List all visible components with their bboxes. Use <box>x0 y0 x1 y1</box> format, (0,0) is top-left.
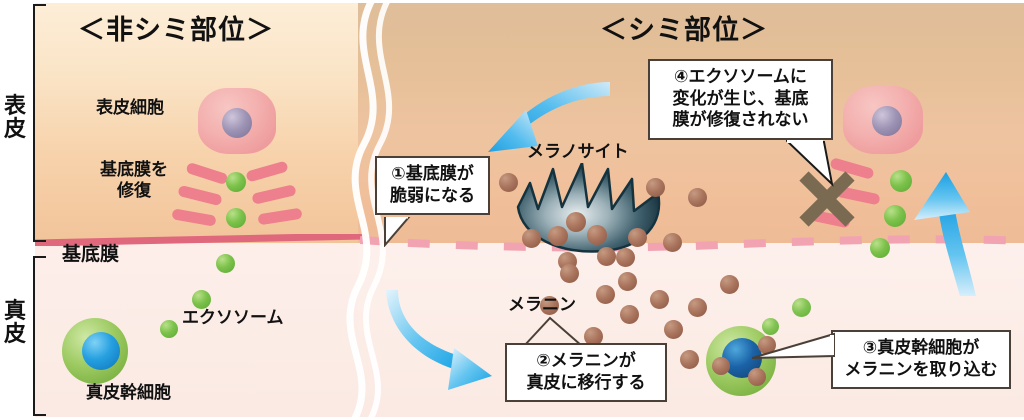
side-label-epidermis: 表皮 <box>0 95 30 141</box>
melanin-particle <box>548 226 568 246</box>
diagram-canvas: 表皮 真皮 ＜非シミ部位＞ ＜シミ部位＞ 表皮細胞 基底膜を 修復 基底膜 エク… <box>0 0 1024 420</box>
melanin-particle <box>650 290 669 309</box>
melanin-particle <box>616 248 635 267</box>
melanin-particle <box>688 188 707 207</box>
exosome-particle <box>160 320 178 338</box>
exosome-particle-altered <box>792 298 811 317</box>
label-basement-membrane: 基底膜 <box>62 243 119 266</box>
callout-4-tail <box>786 140 856 188</box>
callout-1-tail <box>383 217 429 247</box>
melanin-particle <box>560 264 579 283</box>
blue-arrow-to-dermis-icon <box>368 288 500 398</box>
melanin-particle <box>688 298 707 317</box>
label-melanocyte: メラノサイト <box>527 142 629 163</box>
exosome-particle <box>226 208 246 228</box>
callout-3-tail <box>752 332 836 368</box>
bracket-dermis <box>33 256 35 416</box>
melanin-particle <box>628 228 647 247</box>
callout-1: ①基底膜が 脆弱になる <box>375 156 490 215</box>
keratinocyte-nucleus-left <box>222 108 252 138</box>
melanin-particle <box>720 275 739 294</box>
label-repair-basement-membrane: 基底膜を 修復 <box>100 160 168 201</box>
label-keratinocyte: 表皮細胞 <box>96 98 164 119</box>
bracket-epidermis <box>33 4 35 242</box>
header-non-spot-area: ＜非シミ部位＞ <box>78 8 274 47</box>
exosome-particle-altered <box>870 238 890 258</box>
melanin-particle <box>680 350 699 369</box>
melanin-particle <box>597 247 616 266</box>
melanin-particle <box>499 173 518 192</box>
melanin-particle <box>664 320 683 339</box>
callout-3: ③真皮幹細胞が メラニンを取り込む <box>831 330 1011 389</box>
exosome-particle <box>226 172 246 192</box>
melanin-particle <box>522 229 541 248</box>
melanin-particle-absorbed <box>748 368 766 386</box>
label-dermal-stem-cell: 真皮幹細胞 <box>86 383 171 404</box>
callout-4: ④エクソソームに 変化が生じ、基底 膜が修復されない <box>648 59 833 140</box>
melanin-particle <box>596 285 615 304</box>
side-label-dermis: 真皮 <box>0 300 30 346</box>
melanin-particle <box>620 305 639 324</box>
melanin-particle <box>618 272 637 291</box>
dermal-stem-cell-nucleus-left <box>82 332 120 370</box>
melanin-particle-absorbed <box>712 357 730 375</box>
callout-2: ②メラニンが 真皮に移行する <box>505 343 667 402</box>
keratinocyte-nucleus-right <box>872 106 902 136</box>
blue-arrow-up-icon <box>900 168 1010 298</box>
exosome-particle <box>192 290 211 309</box>
melanin-particle <box>566 212 586 232</box>
label-exosome: エクソソーム <box>182 308 284 329</box>
melanin-particle <box>587 225 607 245</box>
melanin-particle <box>646 178 665 197</box>
exosome-particle <box>216 254 235 273</box>
melanin-particle <box>663 233 682 252</box>
header-spot-area: ＜シミ部位＞ <box>600 8 768 47</box>
